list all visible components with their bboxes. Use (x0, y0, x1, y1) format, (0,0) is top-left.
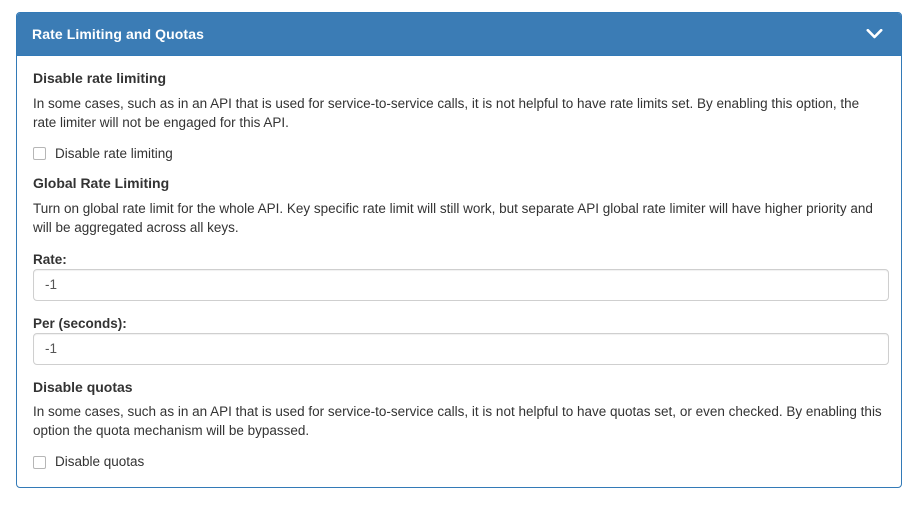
panel-body: Disable rate limiting In some cases, suc… (17, 56, 901, 487)
disable-quotas-checkbox-row[interactable]: Disable quotas (33, 453, 885, 471)
disable-rate-limiting-checkbox[interactable] (33, 147, 46, 160)
rate-field-group: Rate: (33, 251, 885, 301)
panel-header[interactable]: Rate Limiting and Quotas (17, 13, 901, 56)
disable-rate-limiting-checkbox-row[interactable]: Disable rate limiting (33, 145, 885, 163)
global-rate-limiting-description: Turn on global rate limit for the whole … (33, 199, 885, 237)
rate-input[interactable] (33, 269, 889, 301)
disable-quotas-description: In some cases, such as in an API that is… (33, 402, 885, 440)
disable-quotas-checkbox[interactable] (33, 456, 46, 469)
disable-quotas-heading: Disable quotas (33, 379, 885, 396)
chevron-down-icon[interactable] (863, 23, 885, 45)
disable-quotas-checkbox-label[interactable]: Disable quotas (55, 453, 144, 471)
per-seconds-input[interactable] (33, 333, 889, 365)
per-seconds-field-label: Per (seconds): (33, 316, 127, 331)
rate-field-label: Rate: (33, 252, 67, 267)
panel-title: Rate Limiting and Quotas (32, 27, 204, 41)
disable-rate-limiting-checkbox-label[interactable]: Disable rate limiting (55, 145, 173, 163)
disable-rate-limiting-description: In some cases, such as in an API that is… (33, 94, 885, 132)
rate-limiting-quotas-panel: Rate Limiting and Quotas Disable rate li… (16, 12, 902, 488)
disable-rate-limiting-heading: Disable rate limiting (33, 70, 885, 87)
global-rate-limiting-heading: Global Rate Limiting (33, 175, 885, 192)
per-seconds-field-group: Per (seconds): (33, 315, 885, 365)
